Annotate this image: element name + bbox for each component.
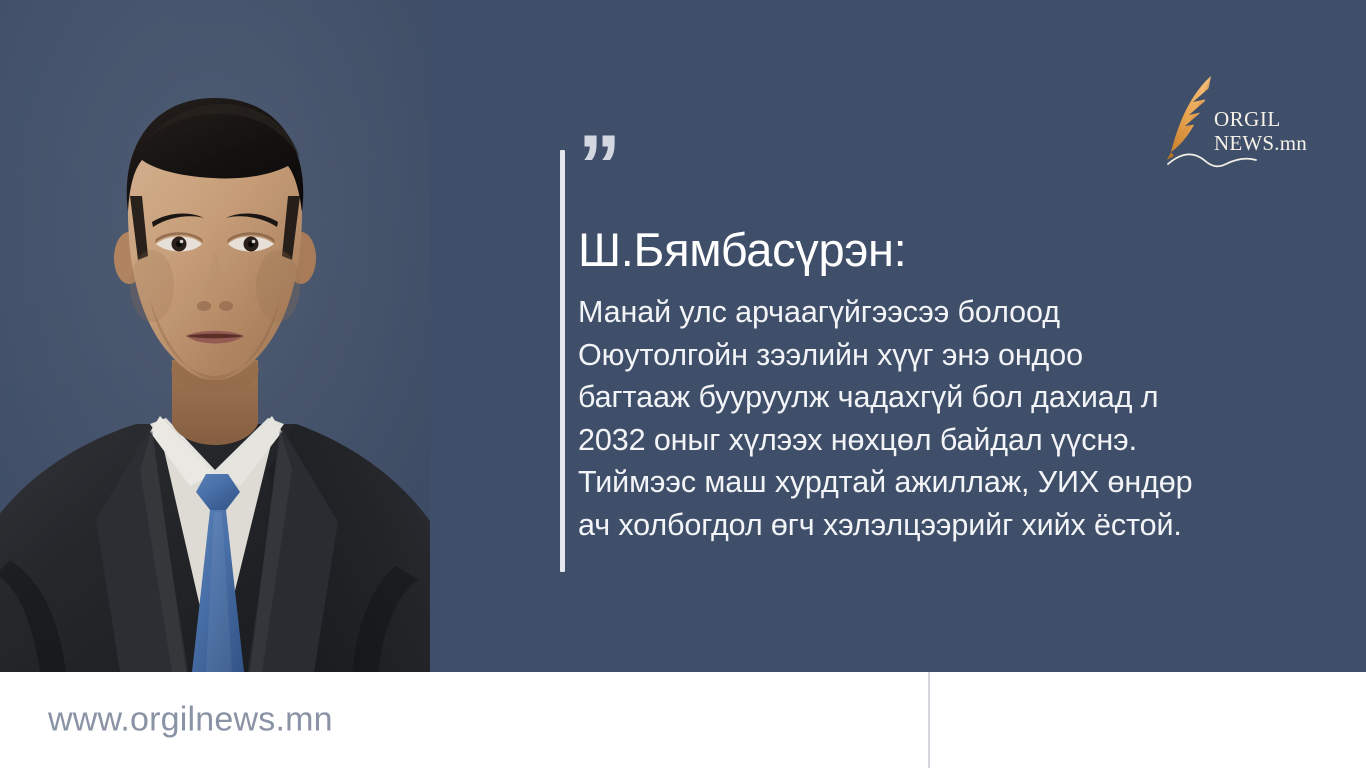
portrait-image [0,0,430,672]
quote-text: Манай улс арчаагүйгээсээ болоод Оюутолго… [578,291,1318,546]
quote-accent-rule [560,150,565,572]
speaker-name: Ш.Бямбасүрэн: [578,222,1318,277]
logo-line-1: ORGIL [1214,107,1281,131]
news-quote-card: ” Ш.Бямбасүрэн: Манай улс арчаагүйгээсээ… [0,0,1366,768]
logo-line-2: NEWS.mn [1214,131,1307,155]
footer-divider [928,672,930,768]
logo-artwork: ORGIL NEWS.mn [1160,68,1310,178]
quote-line: багтааж бууруулж чадахгүй бол дахиад л [578,376,1318,419]
swoosh-line [1168,154,1256,166]
website-url[interactable]: www.orgilnews.mn [48,701,333,740]
quote-line: 2032 оныг хүлээх нөхцөл байдал үүснэ. [578,419,1318,462]
quote-line: Тиймээс маш хурдтай ажиллаж, УИХ өндөр [578,461,1318,504]
footer-bar: www.orgilnews.mn [0,672,1366,768]
quote-line: ач холбогдол өгч хэлэлцээрийг хийх ёстой… [578,504,1318,547]
quote-line: Оюутолгойн зээлийн хүүг энэ ондоо [578,334,1318,377]
quote-line: Манай улс арчаагүйгээсээ болоод [578,291,1318,334]
orgil-news-logo[interactable]: ORGIL NEWS.mn [1160,68,1310,178]
feather-quill-icon [1167,76,1211,160]
quote-block: ” Ш.Бямбасүрэн: Манай улс арчаагүйгээсээ… [578,140,1318,546]
card-canvas: ” Ш.Бямбасүрэн: Манай улс арчаагүйгээсээ… [0,0,1366,672]
speaker-portrait [0,0,430,672]
